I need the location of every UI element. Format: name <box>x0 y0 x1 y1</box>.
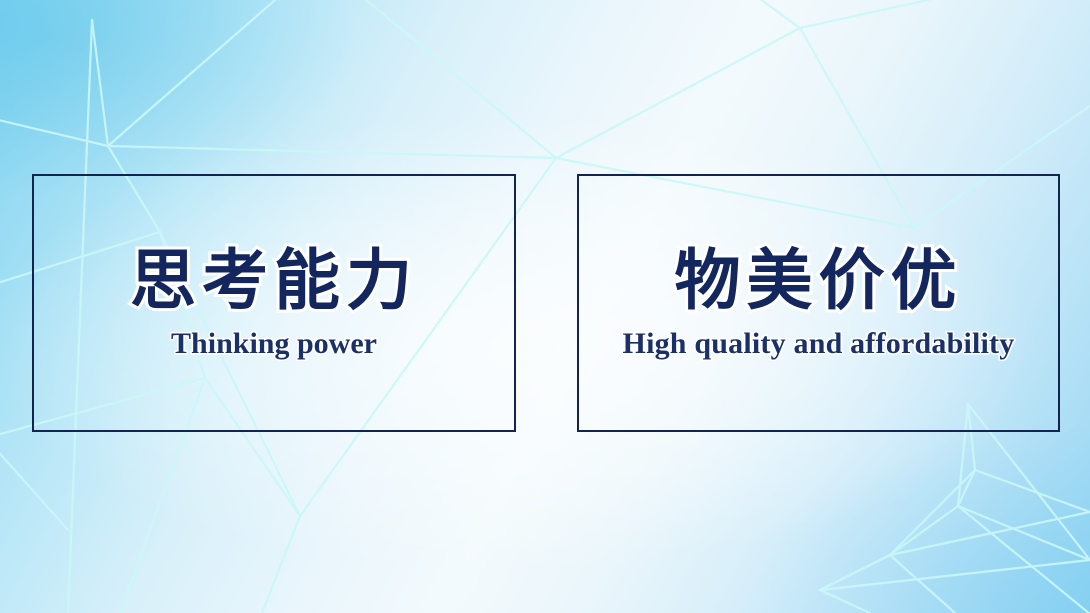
slide-canvas: 思考能力 Thinking power 物美价优 High quality an… <box>0 0 1090 613</box>
panel-left-title-cn: 思考能力 <box>130 246 418 315</box>
panel-thinking-power[interactable]: 思考能力 Thinking power <box>32 174 516 432</box>
panel-right-title-cn: 物美价优 <box>675 246 963 315</box>
panel-content-right: 物美价优 High quality and affordability <box>579 176 1058 430</box>
panel-high-quality[interactable]: 物美价优 High quality and affordability <box>577 174 1060 432</box>
panel-group: 思考能力 Thinking power 物美价优 High quality an… <box>0 0 1090 613</box>
panel-left-subtitle-en: Thinking power <box>171 327 377 360</box>
panel-content-left: 思考能力 Thinking power <box>34 176 514 430</box>
panel-right-subtitle-en: High quality and affordability <box>623 327 1015 360</box>
